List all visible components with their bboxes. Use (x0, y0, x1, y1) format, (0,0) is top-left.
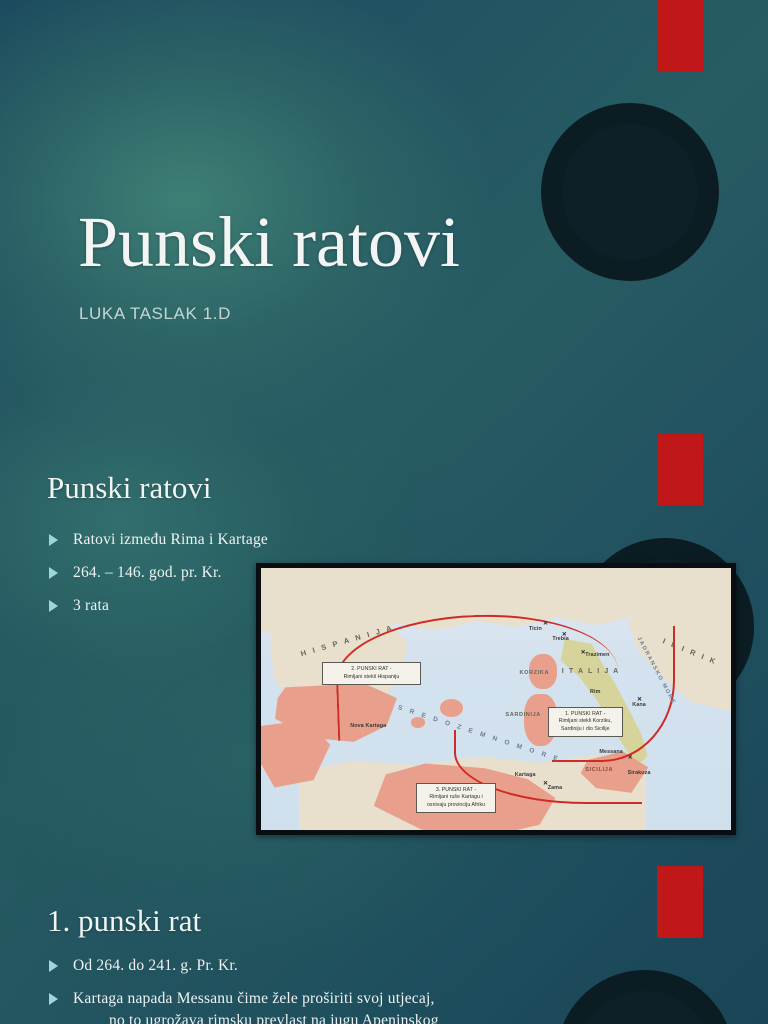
bullet-triangle-icon (49, 567, 58, 579)
bullet-triangle-icon (49, 600, 58, 612)
map-region-label-italija: I T A L I J A (562, 668, 620, 675)
slide-title: Punski ratovi LUKA TASLAK 1.D (0, 0, 768, 430)
list-item: Ratovi između Rima i Kartage (47, 530, 277, 550)
list-item-text: 3 rata (73, 597, 109, 614)
list-item: Od 264. do 241. g. Pr. Kr. (47, 956, 447, 976)
title-subtitle: LUKA TASLAK 1.D (79, 304, 231, 324)
map-city-label-kartaga: Kartaga (515, 772, 536, 778)
map-island-label-korzika: KORZIKA (520, 670, 550, 676)
map-city-label-zama: Zama (548, 785, 562, 791)
map-island-label-sicilija: SICILIJA (585, 767, 613, 773)
list-item-text: Od 264. do 241. g. Pr. Kr. (73, 957, 238, 974)
list-item-text: Kartaga napada Messanu čime žele proširi… (73, 990, 435, 1007)
callout-title: 2. PUNSKI RAT - (351, 666, 391, 672)
map-battle-marker-ticin: ✕ (543, 620, 548, 627)
bullet-list-prvi-punski-rat: Od 264. do 241. g. Pr. Kr. Kartaga napad… (47, 956, 447, 1024)
map-battle-marker-trebia: ✕ (562, 631, 567, 638)
map-battle-marker-zama: ✕ (543, 780, 548, 787)
list-item: 264. – 146. god. pr. Kr. (47, 563, 277, 583)
map-island-label-sardinija: SARDINIJA (505, 712, 541, 718)
map-city-label-messana: Messana (599, 749, 622, 755)
slide-prvi-punski-rat: 1. punski rat Od 264. do 241. g. Pr. Kr.… (0, 870, 768, 1024)
map-callout-third-punic-war: 3. PUNSKI RAT - Rimljani ruše Kartagu i … (416, 783, 496, 813)
section-heading-prvi-punski-rat: 1. punski rat (47, 903, 201, 939)
bullet-triangle-icon (49, 534, 58, 546)
map-city-label-rim: Rim (590, 689, 600, 695)
map-image: H I S P A N I J A I T A L I J A I L I R … (256, 563, 736, 835)
list-item: Kartaga napada Messanu čime žele proširi… (47, 989, 447, 1024)
callout-title: 1. PUNSKI RAT - (565, 711, 605, 717)
callout-body: Rimljani stekli Korziku, Sardiniju i dio… (559, 718, 612, 731)
map-city-label-sirakuza: Sirakuza (628, 770, 651, 776)
callout-body: Rimljani ruše Kartagu i osnivaju provinc… (427, 794, 485, 807)
map-callout-first-punic-war: 1. PUNSKI RAT - Rimljani stekli Korziku,… (548, 707, 623, 737)
list-item-text: Ratovi između Rima i Kartage (73, 531, 268, 548)
section-heading-punski-ratovi: Punski ratovi (47, 470, 211, 506)
list-item-text: 264. – 146. god. pr. Kr. (73, 564, 222, 581)
callout-body: Rimljani stekli Hispaniju (344, 674, 400, 680)
bullet-triangle-icon (49, 993, 58, 1005)
slide-deck-page: Punski ratovi LUKA TASLAK 1.D Punski rat… (0, 0, 768, 1024)
list-item: 3 rata (47, 596, 277, 616)
map-city-label-nova-kartaga: Nova Kartaga (350, 723, 386, 729)
map-canvas: H I S P A N I J A I T A L I J A I L I R … (261, 568, 731, 830)
bullet-triangle-icon (49, 960, 58, 972)
map-city-label-trazimen: Trazimen (585, 652, 609, 658)
list-item-continuation: no to ugrožava rimsku prevlast na jugu A… (73, 1011, 447, 1024)
map-callout-second-punic-war: 2. PUNSKI RAT - Rimljani stekli Hispanij… (322, 662, 421, 685)
map-battle-marker-trazimen: ✕ (581, 649, 586, 656)
map-battle-marker-messana: ✕ (628, 754, 633, 761)
map-city-label-ticin: Ticin (529, 626, 542, 632)
bullet-list-punski-ratovi: Ratovi između Rima i Kartage 264. – 146.… (47, 530, 277, 628)
map-battle-marker-kana: ✕ (637, 696, 642, 703)
page-title: Punski ratovi (78, 206, 460, 278)
callout-title: 3. PUNSKI RAT - (436, 787, 476, 793)
